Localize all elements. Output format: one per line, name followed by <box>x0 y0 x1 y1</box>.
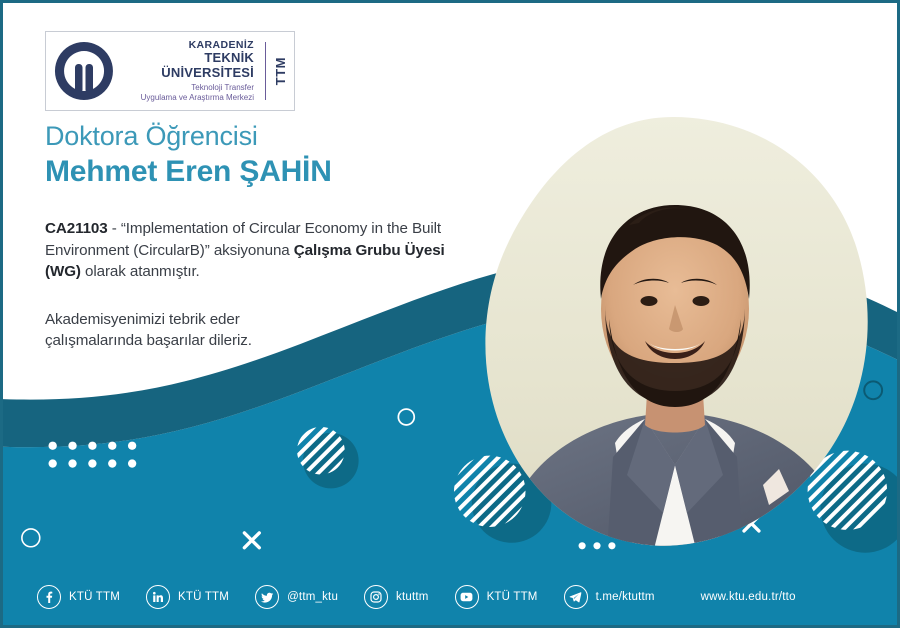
telegram-icon[interactable] <box>564 585 588 609</box>
linkedin-label: KTÜ TTM <box>178 591 229 603</box>
footer-social-bar: KTÜ TTM KTÜ TTM @ttm_ktu <box>3 569 897 625</box>
ktu-emblem-icon <box>50 37 118 105</box>
website-url[interactable]: www.ktu.edu.tr/tto <box>701 591 796 603</box>
logo-line-universitesi: TEKNİK ÜNİVERSİTESİ <box>118 51 254 81</box>
facebook-label: KTÜ TTM <box>69 591 120 603</box>
logo-line-uygulama-merkezi: Uygulama ve Araştırma Merkezi <box>141 93 254 103</box>
facebook-icon[interactable] <box>37 585 61 609</box>
closing-line-2: çalışmalarında başarılar dileriz. <box>45 332 252 349</box>
logo-line-teknoloji-transfer: Teknoloji Transfer <box>191 83 254 93</box>
social-linkedin[interactable]: KTÜ TTM <box>146 585 229 609</box>
twitter-label: @ttm_ktu <box>287 591 338 603</box>
logo-divider <box>265 42 266 100</box>
social-youtube[interactable]: KTÜ TTM <box>455 585 538 609</box>
portrait-photo <box>477 113 873 553</box>
social-instagram[interactable]: ktuttm <box>364 585 429 609</box>
social-twitter[interactable]: @ttm_ktu <box>255 585 338 609</box>
twitter-icon[interactable] <box>255 585 279 609</box>
social-facebook[interactable]: KTÜ TTM <box>37 585 120 609</box>
linkedin-icon[interactable] <box>146 585 170 609</box>
portrait-container <box>477 113 873 553</box>
announcement-body: CA21103 - “Implementation of Circular Ec… <box>45 218 465 283</box>
announcement-poster: KARADENİZ TEKNİK ÜNİVERSİTESİ Teknoloji … <box>0 0 900 628</box>
closing-line-1: Akademisyenimizi tebrik eder <box>45 311 240 328</box>
announcement-text-block: Doktora Öğrencisi Mehmet Eren ŞAHİN CA21… <box>45 121 465 352</box>
role-title: Doktora Öğrencisi <box>45 121 465 152</box>
youtube-icon[interactable] <box>455 585 479 609</box>
instagram-label: ktuttm <box>396 591 429 603</box>
social-telegram[interactable]: t.me/ktuttm <box>564 585 655 609</box>
telegram-label: t.me/ktuttm <box>596 591 655 603</box>
logo-text-block: KARADENİZ TEKNİK ÜNİVERSİTESİ Teknoloji … <box>118 39 258 103</box>
instagram-icon[interactable] <box>364 585 388 609</box>
portrait-illustration <box>477 113 873 553</box>
person-name: Mehmet Eren ŞAHİN <box>45 154 465 190</box>
action-code: CA21103 <box>45 220 108 237</box>
closing-message: Akademisyenimizi tebrik ederçalışmaların… <box>45 309 465 352</box>
striped-circle-1 <box>297 427 345 475</box>
youtube-label: KTÜ TTM <box>487 591 538 603</box>
ktu-ttm-logo-card: KARADENİZ TEKNİK ÜNİVERSİTESİ Teknoloji … <box>45 31 295 111</box>
body-part-2: olarak atanmıştır. <box>81 263 200 280</box>
logo-ttm-vertical: TTM <box>273 57 288 85</box>
